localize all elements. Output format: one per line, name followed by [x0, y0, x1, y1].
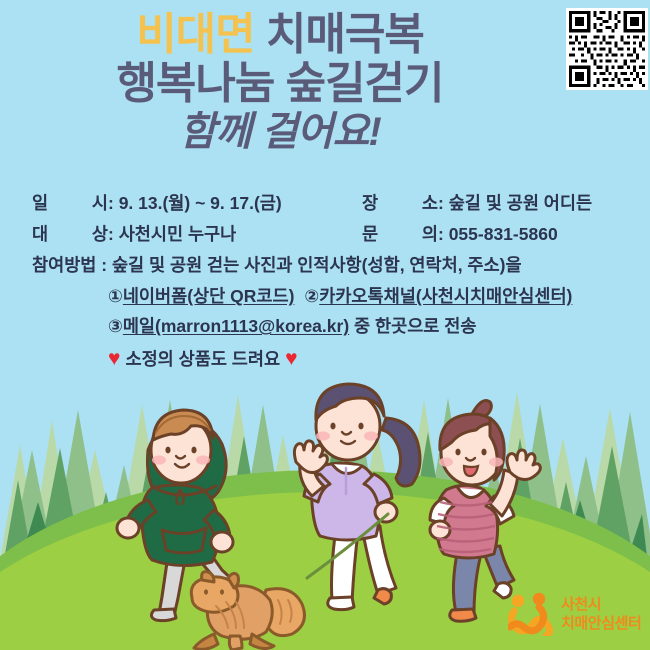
heart-icon-right: ♥	[285, 348, 297, 369]
label-target: 대 상	[32, 221, 108, 246]
info-cell-target: 대 상 : 사천시민 누구나	[32, 221, 362, 246]
method-2-text: 카카오톡채널(사천시치매안심센터)	[319, 286, 572, 306]
label-contact: 문 의	[362, 221, 438, 246]
title-accent-word: 비대면	[136, 10, 254, 59]
method-1-number: ①	[108, 286, 123, 306]
value-target: : 사천시민 누구나	[108, 221, 236, 246]
poster-root: 비대면 치매극복 행복나눔 숲길걷기 함께 걸어요! 일 시 : 9. 13.(…	[0, 0, 650, 650]
value-contact: : 055-831-5860	[438, 224, 558, 245]
value-date: : 9. 13.(월) ~ 9. 17.(금)	[108, 190, 282, 215]
gift-text: 소정의 상품도 드려요	[120, 346, 285, 371]
gift-notice: ♥ 소정의 상품도 드려요 ♥	[0, 343, 650, 373]
label-date: 일 시	[32, 190, 108, 215]
method-line-1-2: ①네이버폼(상단 QR코드)②카카오톡채널(사천시치매안심센터)	[0, 283, 650, 313]
logo-mark-icon	[508, 592, 554, 636]
organization-logo: 사천시 치매안심센터	[508, 592, 641, 636]
title-line-1: 비대면 치매극복	[0, 12, 560, 59]
logo-text: 사천시 치매안심센터	[561, 595, 641, 633]
title-main-word: 치매극복	[266, 10, 424, 59]
info-row-audience: 대 상 : 사천시민 누구나 문 의 : 055-831-5860	[0, 221, 650, 252]
info-row-schedule: 일 시 : 9. 13.(월) ~ 9. 17.(금) 장 소 : 숲길 및 공…	[0, 190, 650, 221]
method-line-3: ③메일(marron1113@korea.kr) 중 한곳으로 전송	[0, 313, 650, 343]
info-cell-place: 장 소 : 숲길 및 공원 어디든	[362, 190, 592, 215]
method-1-text: 네이버폼(상단 QR코드)	[123, 286, 295, 306]
method-2-number: ②	[304, 286, 319, 306]
title-block: 비대면 치매극복 행복나눔 숲길걷기 함께 걸어요!	[0, 12, 560, 157]
qr-code[interactable]	[566, 8, 648, 90]
title-line-2: 행복나눔 숲길걷기	[0, 59, 560, 108]
info-cell-contact: 문 의 : 055-831-5860	[362, 221, 558, 246]
logo-line-1: 사천시	[561, 595, 641, 614]
label-place: 장 소	[362, 190, 438, 215]
participation-method-line: 참여방법 : 숲길 및 공원 걷는 사진과 인적사항(성함, 연락처, 주소)을	[0, 252, 650, 283]
title-line-3: 함께 걸어요!	[0, 108, 560, 157]
dog	[178, 572, 318, 650]
info-section: 일 시 : 9. 13.(월) ~ 9. 17.(금) 장 소 : 숲길 및 공…	[0, 190, 650, 373]
method-3-number: ③	[108, 316, 123, 336]
method-3-suffix: 중 한곳으로 전송	[354, 316, 476, 336]
logo-line-2: 치매안심센터	[561, 614, 641, 633]
value-place: : 숲길 및 공원 어디든	[438, 190, 592, 215]
heart-icon-left: ♥	[108, 348, 120, 369]
method-3-text: 메일(marron1113@korea.kr)	[123, 316, 349, 336]
info-cell-date: 일 시 : 9. 13.(월) ~ 9. 17.(금)	[32, 190, 362, 215]
